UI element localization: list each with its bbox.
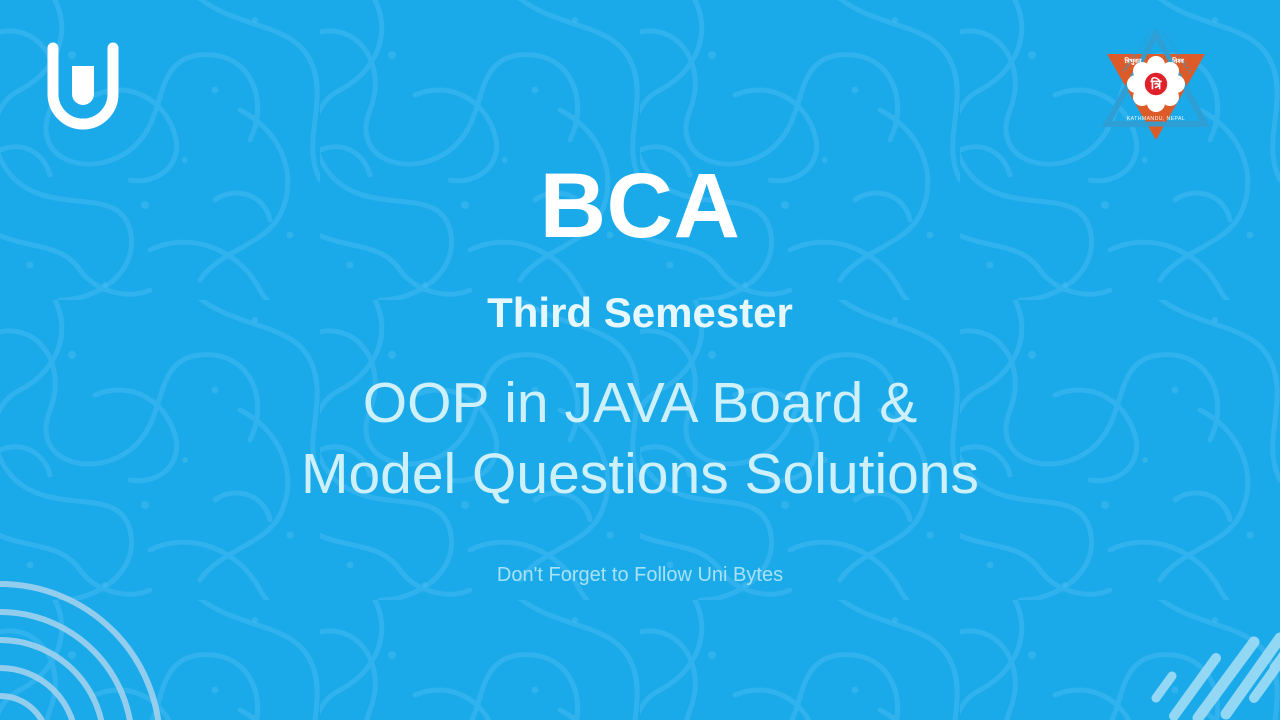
uni-bytes-logo[interactable] (44, 42, 122, 134)
tribhuvan-university-emblem: त्रि KATHMANDU, NEPAL TRIBHUVAN UNIVERSI… (1100, 28, 1212, 146)
semester-label: Third Semester (487, 252, 793, 334)
svg-text:त्रि: त्रि (1150, 77, 1162, 92)
background-doodle-pattern (0, 0, 1280, 720)
slide-content: BCA Third Semester OOP in JAVA Board & M… (0, 0, 1280, 720)
follow-note: Don't Forget to Follow Uni Bytes (497, 509, 783, 585)
program-title: BCA (540, 0, 741, 252)
svg-text:KATHMANDU, NEPAL: KATHMANDU, NEPAL (1127, 116, 1185, 122)
bottom-right-stripes-ornament (1134, 526, 1280, 720)
subject-title-line-1: OOP in JAVA Board & (301, 368, 979, 439)
subject-title-line-2: Model Questions Solutions (301, 439, 979, 510)
svg-text:त्रिभुवन: त्रिभुवन (1123, 57, 1141, 65)
presentation-slide: त्रि KATHMANDU, NEPAL TRIBHUVAN UNIVERSI… (0, 0, 1280, 720)
bottom-left-arcs-ornament (0, 536, 208, 720)
svg-text:विश्व: विश्व (1171, 57, 1184, 65)
subject-title: OOP in JAVA Board & Model Questions Solu… (301, 334, 979, 509)
